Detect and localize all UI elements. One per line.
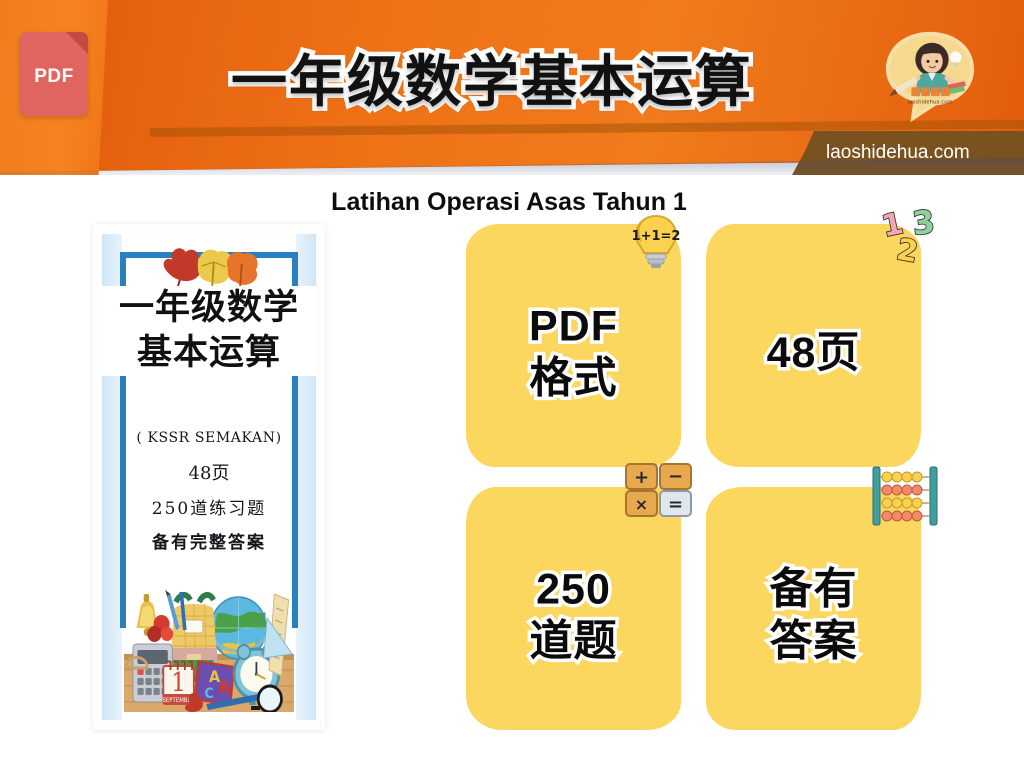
cover-title: 一年级数学 基本运算 bbox=[102, 286, 316, 376]
cover-meta: ( KSSR SEMAKAN) 48页 250道练习题 备有完整答案 bbox=[102, 430, 316, 553]
card-line2: 道题 bbox=[466, 616, 681, 668]
feature-card-pdf-format[interactable]: PDF 格式 1+1=2 bbox=[466, 224, 681, 467]
subtitle: Latihan Operasi Asas Tahun 1 bbox=[0, 188, 1024, 217]
card-line1: 备有 bbox=[706, 563, 921, 615]
cover-edition: ( KSSR SEMAKAN) bbox=[102, 430, 316, 446]
cover-title-line1: 一年级数学 bbox=[102, 286, 316, 331]
lightbulb-equation: 1+1=2 bbox=[632, 229, 681, 244]
slide-canvas: PDF 一年级数学基本运算 bbox=[0, 0, 1024, 768]
card-line1: 250 bbox=[466, 563, 681, 615]
card-text: PDF 格式 bbox=[466, 286, 681, 405]
card-text: 48页 bbox=[706, 312, 921, 378]
book-cover-image[interactable]: 一年级数学 基本运算 ( KSSR SEMAKAN) 48页 250道练习题 备… bbox=[93, 224, 325, 730]
card-line1: PDF bbox=[466, 300, 681, 352]
abacus-icon bbox=[871, 465, 939, 527]
svg-text:1: 1 bbox=[171, 667, 186, 698]
card-text: 备有 答案 bbox=[706, 549, 921, 668]
svg-text:×: × bbox=[635, 495, 648, 514]
svg-text:C: C bbox=[205, 686, 214, 702]
page-fold-corner bbox=[66, 32, 88, 54]
book-cover-inner: 一年级数学 基本运算 ( KSSR SEMAKAN) 48页 250道练习题 备… bbox=[102, 234, 316, 720]
logo-url-text: laoshidehua.com bbox=[908, 99, 953, 105]
school-supplies-illustration: 1 SEPTEMBER A B C bbox=[124, 536, 294, 712]
math-operators-icon: + − × = bbox=[625, 463, 693, 517]
card-text: 250 道题 bbox=[466, 549, 681, 668]
card-line2: 答案 bbox=[706, 616, 921, 668]
feature-card-page-count[interactable]: 48页 1 2 3 bbox=[706, 224, 921, 467]
cover-pages: 48页 bbox=[102, 459, 316, 485]
svg-text:B: B bbox=[219, 678, 230, 697]
cover-title-line2: 基本运算 bbox=[102, 331, 316, 376]
page-header: PDF 一年级数学基本运算 bbox=[0, 0, 1024, 175]
feature-card-answers-included[interactable]: 备有 答案 bbox=[706, 487, 921, 730]
svg-text:−: − bbox=[668, 466, 683, 487]
feature-card-grid: PDF 格式 1+1=2 48页 1 bbox=[466, 224, 921, 730]
numbers-123-icon: 1 2 3 bbox=[873, 202, 943, 272]
svg-text:3: 3 bbox=[911, 203, 937, 243]
page-title: 一年级数学基本运算 bbox=[0, 54, 1024, 110]
cover-questions: 250道练习题 bbox=[102, 494, 316, 519]
svg-text:=: = bbox=[668, 494, 683, 515]
lightbulb-icon: 1+1=2 bbox=[625, 210, 687, 272]
feature-card-question-count[interactable]: 250 道题 + − × = bbox=[466, 487, 681, 730]
brand-logo[interactable]: laoshidehua.com bbox=[881, 28, 979, 126]
svg-text:+: + bbox=[634, 467, 649, 488]
card-line2: 格式 bbox=[466, 353, 681, 405]
card-line1: 48页 bbox=[706, 326, 921, 378]
